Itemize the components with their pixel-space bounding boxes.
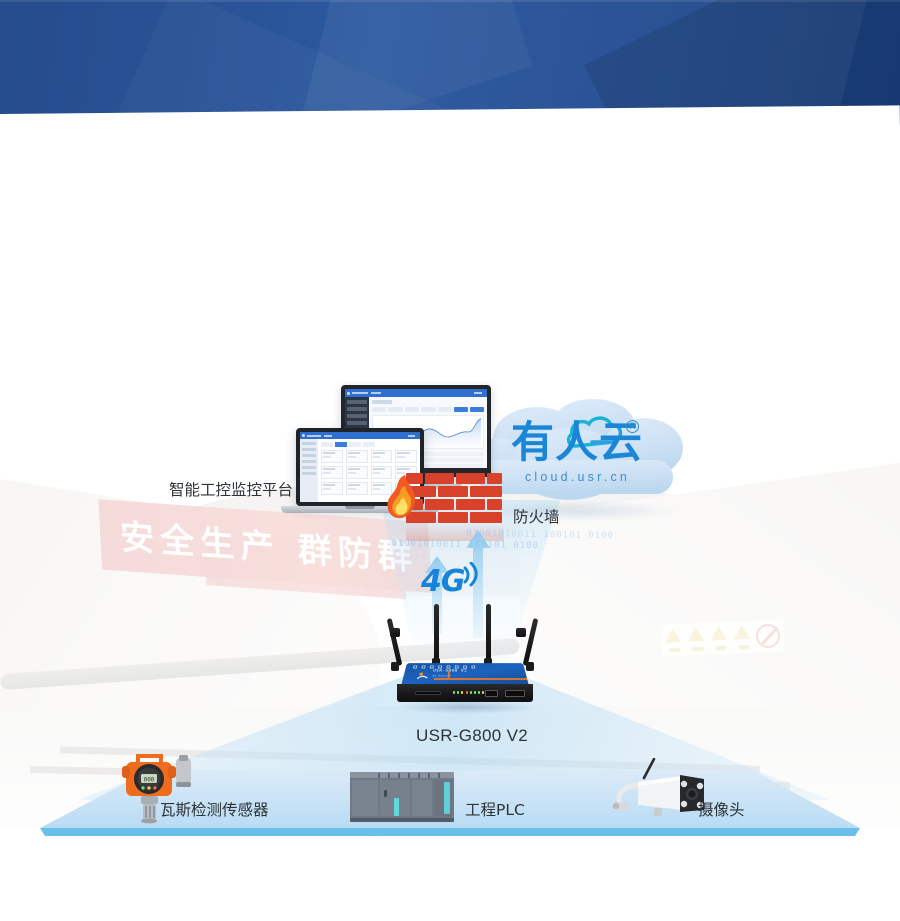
warning-triangle-icon — [685, 625, 707, 654]
dashboard-heading — [372, 400, 392, 404]
filter-chip[interactable] — [372, 407, 386, 412]
usb-port[interactable] — [485, 690, 498, 697]
device-card[interactable] — [321, 482, 343, 495]
warning-triangle-icon — [731, 623, 753, 652]
device-card[interactable] — [346, 466, 368, 479]
titlebar-user — [408, 435, 415, 437]
brick-wall — [406, 473, 504, 523]
label-firewall: 防火墙 — [513, 505, 560, 527]
list-titlebar — [300, 432, 420, 439]
dashboard-titlebar — [345, 389, 487, 397]
ip-camera-device — [610, 758, 710, 820]
titlebar-text-block — [307, 435, 321, 437]
brick-row — [406, 473, 504, 484]
filter-chip[interactable] — [405, 407, 419, 412]
device-card[interactable] — [346, 450, 368, 463]
label-plc: 工程PLC — [465, 798, 525, 820]
panel-icon — [413, 665, 417, 668]
registered-trademark-icon: R — [626, 420, 639, 433]
label-camera: 摄像头 — [698, 798, 745, 820]
query-button[interactable] — [454, 407, 468, 412]
industrial-plc-device — [348, 768, 456, 824]
titlebar-text-block — [324, 435, 332, 437]
sidebar-item[interactable] — [302, 472, 316, 475]
filter-chip-row — [372, 407, 484, 412]
led — [474, 691, 476, 694]
flame-icon — [386, 474, 420, 524]
mounting-ear-right — [516, 628, 526, 637]
brick-row — [406, 486, 504, 497]
sidebar-item[interactable] — [302, 454, 316, 457]
device-card[interactable] — [371, 450, 393, 463]
sidebar-item[interactable] — [302, 460, 316, 463]
panel-icon — [438, 665, 442, 668]
sidebar-item[interactable] — [302, 442, 316, 445]
signal-waves-icon — [421, 562, 487, 602]
warning-sign-board — [659, 618, 785, 657]
list-tab[interactable] — [349, 442, 361, 447]
filter-chip[interactable] — [421, 407, 435, 412]
led — [478, 691, 480, 694]
sidebar-item[interactable] — [302, 466, 316, 469]
antenna — [486, 604, 491, 662]
label-router-model: USR-G800 V2 — [416, 726, 528, 746]
sidebar-item[interactable] — [347, 421, 367, 425]
filter-chip[interactable] — [438, 407, 452, 412]
titlebar-text-block — [352, 392, 368, 394]
titlebar-text-block — [371, 392, 381, 394]
device-card[interactable] — [395, 450, 417, 463]
brick-row — [406, 499, 504, 510]
panel-icon — [446, 665, 450, 668]
led-indicator-row — [453, 691, 484, 694]
cloud-domain: cloud.usr.cn — [490, 470, 665, 484]
sidebar-item[interactable] — [347, 414, 367, 418]
led — [470, 691, 472, 694]
antenna — [434, 604, 439, 662]
led — [457, 691, 459, 694]
top-banner — [0, 0, 900, 126]
brick-row — [406, 512, 504, 523]
panel-icon — [455, 665, 459, 668]
app-logo-icon — [302, 434, 305, 437]
laptop-trackpad-notch — [345, 506, 375, 509]
device-card[interactable] — [321, 450, 343, 463]
led — [466, 691, 468, 694]
sidebar-item[interactable] — [347, 400, 367, 404]
label-monitoring-platform: 智能工控监控平台 — [169, 478, 293, 500]
led — [461, 691, 463, 694]
router-chassis: USR-G800 V2 4G Router — [397, 658, 533, 702]
label-gas-sensor: 瓦斯检测传感器 — [160, 798, 269, 820]
sim-card-slot[interactable] — [415, 691, 441, 695]
diagram-canvas: 安全生产 群防群治 — [0, 0, 900, 921]
led — [453, 691, 455, 694]
list-tab[interactable] — [321, 442, 333, 447]
led — [482, 691, 484, 694]
list-tab-active[interactable] — [335, 442, 347, 447]
usr-logo-icon — [417, 669, 430, 677]
device-card[interactable] — [321, 466, 343, 479]
titlebar-user — [474, 392, 482, 394]
export-button[interactable] — [470, 407, 484, 412]
list-tab[interactable] — [363, 442, 375, 447]
mounting-ear-left — [390, 628, 400, 637]
list-sidebar — [300, 439, 318, 502]
panel-icon-row — [413, 665, 517, 669]
panel-icon — [471, 665, 475, 668]
device-card[interactable] — [346, 482, 368, 495]
router-usr-g800-v2: USR-G800 V2 4G Router — [390, 600, 540, 718]
no-smoking-icon — [755, 624, 780, 649]
filter-chip[interactable] — [388, 407, 402, 412]
4g-badge: 4G — [421, 562, 487, 602]
serial-db9-port[interactable] — [505, 690, 525, 697]
sidebar-item[interactable] — [347, 407, 367, 411]
warning-triangle-icon — [708, 624, 730, 653]
panel-icon — [421, 665, 425, 668]
warning-triangle-icon — [662, 626, 684, 655]
router-front-face — [397, 684, 533, 702]
svg-text:000: 000 — [144, 777, 155, 784]
panel-icon — [463, 665, 467, 668]
sidebar-item[interactable] — [302, 448, 316, 451]
router-top-panel: USR-G800 V2 4G Router — [401, 663, 529, 686]
app-logo-icon — [347, 392, 350, 395]
firewall-icon — [386, 473, 504, 525]
list-tab-row — [321, 442, 417, 447]
panel-icon — [430, 665, 434, 668]
